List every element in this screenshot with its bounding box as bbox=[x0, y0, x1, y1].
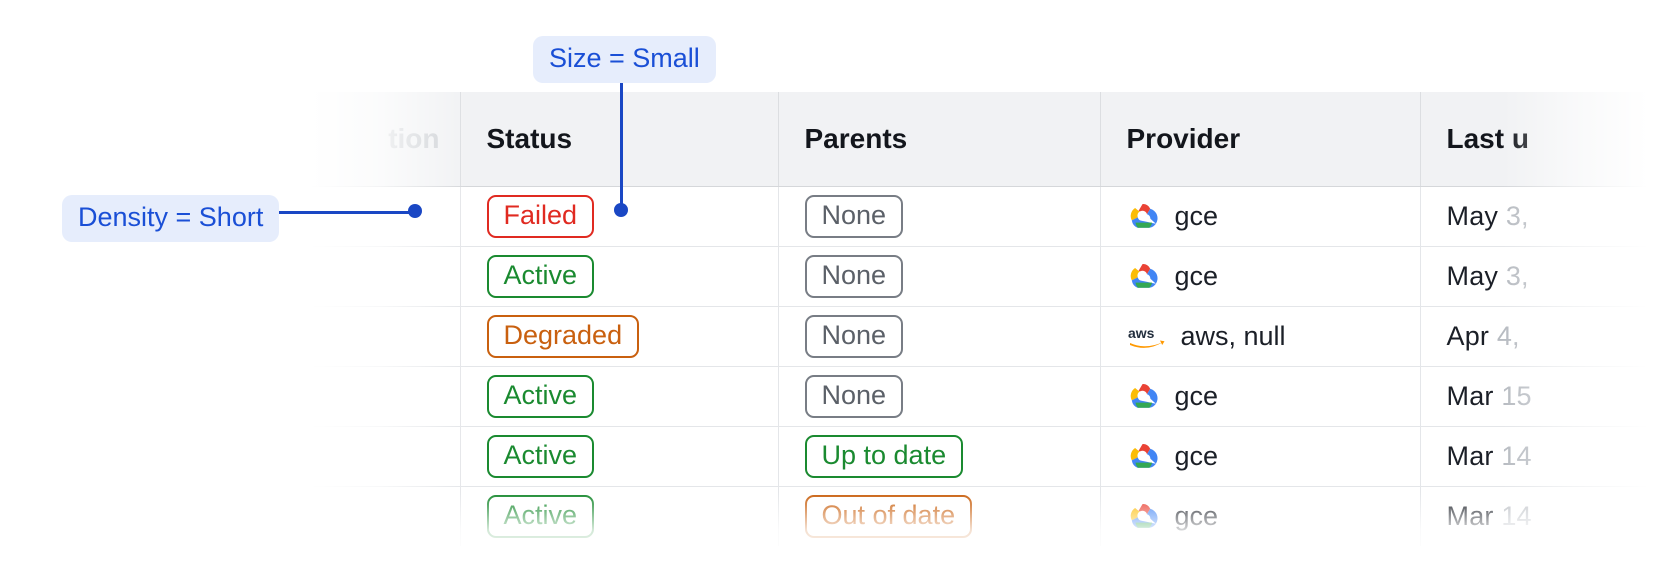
table-row[interactable]: Active Out of date bbox=[300, 486, 1672, 546]
status-badge: Active bbox=[487, 255, 595, 298]
cell-last-updated: May 3, bbox=[1420, 246, 1672, 306]
cell-provider: aws aws, null bbox=[1100, 306, 1420, 366]
table-row[interactable]: Active None bbox=[300, 246, 1672, 306]
column-header-last-updated[interactable]: Last u bbox=[1420, 92, 1672, 186]
table-row[interactable]: Failed None bbox=[300, 186, 1672, 246]
table-row[interactable]: Active None bbox=[300, 366, 1672, 426]
gcp-cloud-icon bbox=[1127, 441, 1161, 471]
cell-provider: gce bbox=[1100, 426, 1420, 486]
last-updated-value-dim: 3, bbox=[1506, 201, 1529, 231]
column-header-provider[interactable]: Provider bbox=[1100, 92, 1420, 186]
last-updated-value: Mar bbox=[1447, 441, 1502, 471]
density-callout-label[interactable]: Density = Short bbox=[62, 195, 279, 242]
gcp-cloud-icon bbox=[1127, 501, 1161, 531]
status-badge: Failed bbox=[487, 195, 595, 238]
cell-status: Active bbox=[460, 246, 778, 306]
cell-parents: None bbox=[778, 246, 1100, 306]
cell-provider: gce bbox=[1100, 246, 1420, 306]
status-badge: Degraded bbox=[487, 315, 640, 358]
cell-last-updated: Mar 14 bbox=[1420, 426, 1672, 486]
cell-last-updated: Mar 14 bbox=[1420, 486, 1672, 546]
cell-provider: gce bbox=[1100, 366, 1420, 426]
provider-label: gce bbox=[1175, 441, 1219, 472]
cell-description bbox=[300, 306, 460, 366]
cell-last-updated: May 3, bbox=[1420, 186, 1672, 246]
cell-last-updated: Apr 4, bbox=[1420, 306, 1672, 366]
cell-last-updated: Mar 15 bbox=[1420, 366, 1672, 426]
status-badge: Active bbox=[487, 435, 595, 478]
aws-logo-icon: aws bbox=[1127, 321, 1167, 351]
table-header: tion Status Parents Provider Last u bbox=[300, 92, 1672, 186]
cell-parents: None bbox=[778, 306, 1100, 366]
parents-badge: None bbox=[805, 255, 904, 298]
left-blank-area bbox=[0, 0, 300, 564]
column-header-description[interactable]: tion bbox=[300, 92, 460, 186]
last-updated-value: May bbox=[1447, 201, 1506, 231]
column-header-parents[interactable]: Parents bbox=[778, 92, 1100, 186]
provider-label: gce bbox=[1175, 201, 1219, 232]
screenshot-stage: tion Status Parents Provider Last u Fail… bbox=[0, 0, 1672, 564]
cell-description bbox=[300, 426, 460, 486]
status-badge: Active bbox=[487, 495, 595, 538]
cell-provider: gce bbox=[1100, 486, 1420, 546]
last-updated-value-dim: 14 bbox=[1501, 441, 1531, 471]
cell-parents: None bbox=[778, 186, 1100, 246]
cell-description bbox=[300, 186, 460, 246]
resource-table-scroll-area[interactable]: tion Status Parents Provider Last u Fail… bbox=[300, 92, 1672, 564]
last-updated-value-dim: 4, bbox=[1497, 321, 1520, 351]
table-header-row: tion Status Parents Provider Last u bbox=[300, 92, 1672, 186]
parents-badge: Up to date bbox=[805, 435, 964, 478]
size-callout-label[interactable]: Size = Small bbox=[533, 36, 716, 83]
parents-badge: None bbox=[805, 195, 904, 238]
last-updated-value: May bbox=[1447, 261, 1506, 291]
provider-label: gce bbox=[1175, 381, 1219, 412]
gcp-cloud-icon bbox=[1127, 261, 1161, 291]
status-badge: Active bbox=[487, 375, 595, 418]
svg-text:aws: aws bbox=[1128, 325, 1155, 341]
cell-parents: Out of date bbox=[778, 486, 1100, 546]
cell-status: Active bbox=[460, 486, 778, 546]
cell-status: Active bbox=[460, 366, 778, 426]
last-updated-value-dim: 14 bbox=[1501, 501, 1531, 531]
provider-label: gce bbox=[1175, 261, 1219, 292]
parents-badge: None bbox=[805, 315, 904, 358]
cell-status: Degraded bbox=[460, 306, 778, 366]
cell-description bbox=[300, 246, 460, 306]
table-row[interactable]: Active Up to date bbox=[300, 426, 1672, 486]
last-updated-value: Mar bbox=[1447, 501, 1502, 531]
last-updated-value: Apr bbox=[1447, 321, 1497, 351]
cell-description bbox=[300, 486, 460, 546]
gcp-cloud-icon bbox=[1127, 201, 1161, 231]
cell-parents: Up to date bbox=[778, 426, 1100, 486]
table-body: Failed None bbox=[300, 186, 1672, 546]
table-row[interactable]: Degraded None aws bbox=[300, 306, 1672, 366]
cell-provider: gce bbox=[1100, 186, 1420, 246]
cell-status: Active bbox=[460, 426, 778, 486]
last-updated-value: Mar bbox=[1447, 381, 1502, 411]
parents-badge: Out of date bbox=[805, 495, 973, 538]
provider-label: aws, null bbox=[1181, 321, 1286, 352]
cell-description bbox=[300, 366, 460, 426]
last-updated-value-dim: 15 bbox=[1501, 381, 1531, 411]
cell-parents: None bbox=[778, 366, 1100, 426]
parents-badge: None bbox=[805, 375, 904, 418]
cell-status: Failed bbox=[460, 186, 778, 246]
provider-label: gce bbox=[1175, 501, 1219, 532]
column-header-status[interactable]: Status bbox=[460, 92, 778, 186]
gcp-cloud-icon bbox=[1127, 381, 1161, 411]
resource-table: tion Status Parents Provider Last u Fail… bbox=[300, 92, 1672, 546]
last-updated-value-dim: 3, bbox=[1506, 261, 1529, 291]
